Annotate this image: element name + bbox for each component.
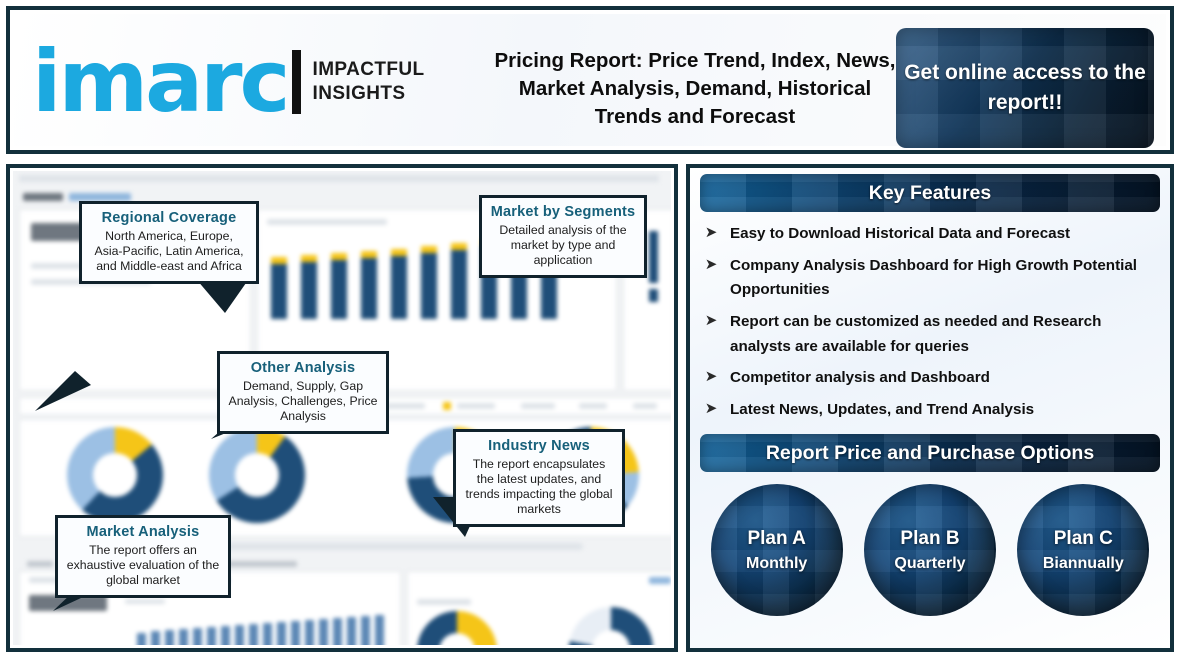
pricing-report-banner: imarc IMPACTFUL INSIGHTS Pricing Report:…: [0, 0, 1180, 658]
plan-a-button[interactable]: Plan A Monthly: [711, 484, 843, 616]
callout-regional-coverage[interactable]: Regional Coverage North America, Europe,…: [79, 201, 259, 284]
header-inner: imarc IMPACTFUL INSIGHTS Pricing Report:…: [14, 14, 1166, 146]
callout-title: Regional Coverage: [90, 210, 248, 226]
arrow-bullet-icon: ➤: [704, 310, 718, 333]
callout-body: North America, Europe, Asia-Pacific, Lat…: [90, 229, 248, 274]
callout-body: Detailed analysis of the market by type …: [490, 223, 636, 268]
callout-other-analysis[interactable]: Other Analysis Demand, Supply, Gap Analy…: [217, 351, 389, 434]
plan-frequency: Biannually: [1043, 555, 1124, 573]
plan-frequency: Quarterly: [894, 555, 965, 573]
dashboard-preview[interactable]: Regional Coverage North America, Europe,…: [13, 171, 671, 645]
callout-title: Market by Segments: [490, 204, 636, 220]
key-features-list: ➤ Easy to Download Historical Data and F…: [704, 222, 1158, 422]
pricing-header: Report Price and Purchase Options: [700, 434, 1160, 472]
feature-label: Company Analysis Dashboard for High Grow…: [730, 254, 1158, 303]
plan-name: Plan C: [1054, 528, 1113, 550]
callout-title: Industry News: [464, 438, 614, 454]
logo-tagline-line2: INSIGHTS: [313, 82, 425, 106]
callout-industry-news[interactable]: Industry News The report encapsulates th…: [453, 429, 625, 527]
arrow-bullet-icon: ➤: [704, 254, 718, 277]
arrow-bullet-icon: ➤: [704, 366, 718, 389]
logo-tagline: IMPACTFUL INSIGHTS: [313, 58, 425, 106]
list-item: ➤ Easy to Download Historical Data and F…: [704, 222, 1158, 247]
feature-label: Report can be customized as needed and R…: [730, 310, 1158, 359]
imarc-logo[interactable]: imarc IMPACTFUL INSIGHTS: [32, 26, 482, 138]
plan-b-button[interactable]: Plan B Quarterly: [864, 484, 996, 616]
list-item: ➤ Competitor analysis and Dashboard: [704, 366, 1158, 391]
callout-title: Market Analysis: [66, 524, 220, 540]
page-title: Pricing Report: Price Trend, Index, News…: [490, 32, 900, 146]
logo-divider-bar: [292, 50, 301, 114]
list-item: ➤ Report can be customized as needed and…: [704, 310, 1158, 359]
callout-body: The report encapsulates the latest updat…: [464, 457, 614, 517]
callout-body: Demand, Supply, Gap Analysis, Challenges…: [228, 379, 378, 424]
callout-market-by-segments[interactable]: Market by Segments Detailed analysis of …: [479, 195, 647, 278]
header-frame: imarc IMPACTFUL INSIGHTS Pricing Report:…: [6, 6, 1174, 154]
logo-tagline-line1: IMPACTFUL: [313, 58, 425, 82]
arrow-bullet-icon: ➤: [704, 398, 718, 421]
plan-frequency: Monthly: [746, 555, 807, 573]
plan-name: Plan A: [747, 528, 805, 550]
plan-name: Plan B: [900, 528, 959, 550]
callout-title: Other Analysis: [228, 360, 378, 376]
dashboard-preview-frame: Regional Coverage North America, Europe,…: [6, 164, 678, 652]
key-features-header: Key Features: [700, 174, 1160, 212]
pricing-plans: Plan A Monthly Plan B Quarterly Plan C B…: [700, 484, 1160, 616]
feature-label: Easy to Download Historical Data and For…: [730, 222, 1070, 247]
list-item: ➤ Company Analysis Dashboard for High Gr…: [704, 254, 1158, 303]
arrow-bullet-icon: ➤: [704, 222, 718, 245]
get-online-access-button[interactable]: Get online access to the report!!: [896, 28, 1154, 148]
callout-market-analysis[interactable]: Market Analysis The report offers an exh…: [55, 515, 231, 598]
feature-label: Competitor analysis and Dashboard: [730, 366, 990, 391]
sidebar-panel: Key Features ➤ Easy to Download Historic…: [686, 164, 1174, 652]
feature-label: Latest News, Updates, and Trend Analysis: [730, 398, 1034, 423]
list-item: ➤ Latest News, Updates, and Trend Analys…: [704, 398, 1158, 423]
callout-body: The report offers an exhaustive evaluati…: [66, 543, 220, 588]
logo-wordmark: imarc: [32, 39, 288, 125]
plan-c-button[interactable]: Plan C Biannually: [1017, 484, 1149, 616]
